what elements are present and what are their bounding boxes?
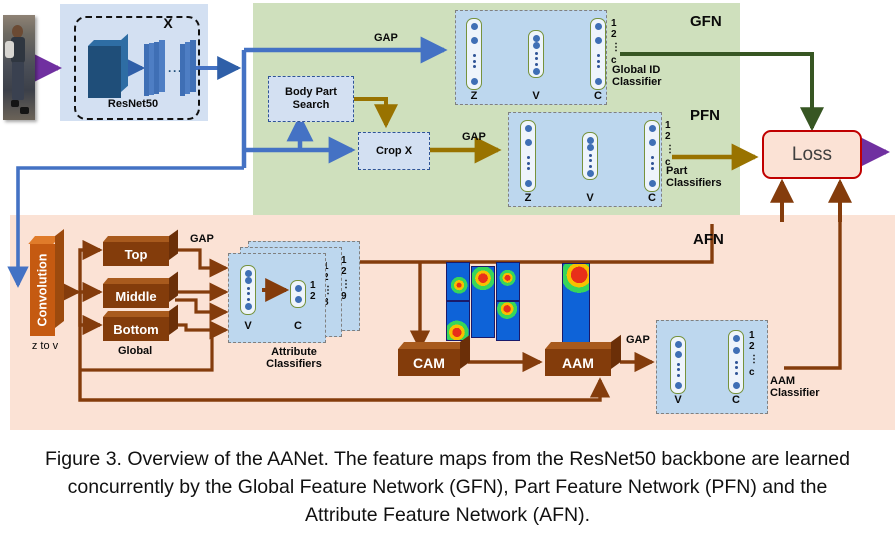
gfn-class-indices: 1 2 ⋮ c <box>611 19 621 67</box>
gfn-v-column <box>528 30 544 78</box>
loss-label: Loss <box>792 144 832 166</box>
cam-label: CAM <box>413 355 445 371</box>
loss-box[interactable]: Loss <box>762 130 862 179</box>
aam-v-column <box>670 336 686 394</box>
pfn-v-column <box>582 132 598 180</box>
gfn-c-column <box>590 18 606 90</box>
figure-root: ··· X ResNet50 GFN GAP Z V C 1 2 ⋮ c Glo… <box>0 0 895 542</box>
pfn-title: PFN <box>690 108 720 125</box>
aam-class-indices: 1 2 ⋮ c <box>749 331 759 379</box>
gfn-c-label: C <box>584 90 612 102</box>
part-block-top: Top <box>103 236 179 266</box>
feature-map-slabs-left <box>144 40 166 96</box>
aam-gap-label: GAP <box>626 334 650 346</box>
attribute-v-label: V <box>234 320 262 332</box>
aam-classifier-caption: AAM Classifier <box>770 375 850 400</box>
part-block-bottom: Bottom <box>103 311 179 341</box>
figure-caption-text: Figure 3. Overview of the AANet. The fea… <box>33 445 863 530</box>
pfn-c-label: C <box>638 192 666 204</box>
gfn-v-label: V <box>522 90 550 102</box>
global-id-classifier-caption: Global ID Classifier <box>612 64 702 89</box>
aam-c-label: C <box>722 394 750 406</box>
afn-title: AFN <box>693 232 724 249</box>
attribute-back-index: ⋮ <box>341 277 351 292</box>
convolution-block: Convolution <box>30 236 64 336</box>
attribute-back-index: 2 <box>341 267 351 278</box>
z-to-v-label: z to v <box>22 340 68 352</box>
cam-heatmap-group <box>446 262 518 340</box>
pfn-class-indices: 1 2 ⋮ c <box>665 121 675 169</box>
attribute-c-label: C <box>284 320 312 332</box>
afn-gap-label: GAP <box>190 233 214 245</box>
aam-block: AAM <box>545 342 621 376</box>
pfn-v-label: V <box>576 192 604 204</box>
pfn-z-label: Z <box>514 192 542 204</box>
crop-x-box: Crop X <box>358 132 430 170</box>
part-classifiers-caption: Part Classifiers <box>666 165 746 190</box>
feature-map-slabs-right <box>180 40 196 96</box>
attribute-classifiers-caption: Attribute Classifiers <box>244 346 344 371</box>
cam-heatmap-tile <box>446 262 470 301</box>
resnet50-block <box>88 40 128 98</box>
gfn-class-index: ⋮ <box>611 40 621 56</box>
body-part-search-label: Body Part Search <box>269 77 353 121</box>
aam-label: AAM <box>562 355 594 371</box>
attribute-front-index: 2 <box>310 292 316 303</box>
cam-heatmap-tile <box>496 262 520 301</box>
aam-v-label: V <box>664 394 692 406</box>
aam-class-index: c <box>749 368 759 379</box>
gfn-class-index: 1 <box>611 19 621 30</box>
pfn-class-index: 1 <box>665 121 675 132</box>
cam-block: CAM <box>398 342 470 376</box>
body-part-search-box: Body Part Search <box>268 76 354 122</box>
attribute-c-column <box>290 280 306 308</box>
part-block-top-label: Top <box>125 247 148 262</box>
attribute-front-indices: 1 2 <box>310 281 316 302</box>
gfn-title: GFN <box>690 14 722 31</box>
figure-caption: Figure 3. Overview of the AANet. The fea… <box>0 432 895 542</box>
resnet50-label: ResNet50 <box>88 98 178 110</box>
attribute-v-column <box>240 265 256 315</box>
cam-heatmap-tile <box>471 266 495 338</box>
aam-heatmap-tile <box>562 263 590 343</box>
input-person-image <box>3 15 35 120</box>
part-block-middle: Middle <box>103 278 179 308</box>
pfn-c-column <box>644 120 660 192</box>
aam-class-index: ⋮ <box>749 352 759 368</box>
attribute-back-indices: 1 2 ⋮ 9 <box>341 256 351 303</box>
cam-heatmap-tile <box>446 301 470 341</box>
pfn-class-index: 2 <box>665 132 675 143</box>
gfn-z-label: Z <box>460 90 488 102</box>
pfn-class-index: ⋮ <box>665 142 675 158</box>
aam-class-index: 2 <box>749 342 759 353</box>
pfn-z-column <box>520 120 536 192</box>
attribute-back-index: 9 <box>341 292 351 303</box>
cam-heatmap-tile <box>496 301 520 341</box>
part-block-bottom-label: Bottom <box>113 322 159 337</box>
aam-class-index: 1 <box>749 331 759 342</box>
gfn-gap-label: GAP <box>374 32 398 44</box>
feature-map-label: X <box>158 16 178 32</box>
pfn-gap-label: GAP <box>462 131 486 143</box>
gfn-class-index: 2 <box>611 30 621 41</box>
afn-global-label: Global <box>118 345 152 357</box>
attribute-front-index: 1 <box>310 281 316 292</box>
crop-x-label: Crop X <box>359 133 429 169</box>
convolution-label: Convolution <box>36 254 50 327</box>
part-block-middle-label: Middle <box>115 289 156 304</box>
gfn-z-column <box>466 18 482 90</box>
attribute-back-index: 1 <box>341 256 351 267</box>
aam-c-column <box>728 330 744 394</box>
